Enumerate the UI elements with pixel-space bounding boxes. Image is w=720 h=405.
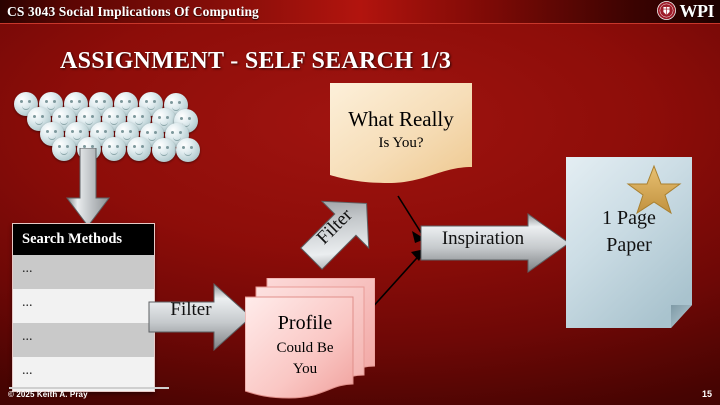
table-header-cell: Search Methods: [13, 224, 154, 255]
top-banner: CS 3043 Social Implications Of Computing: [0, 0, 720, 24]
wpi-wordmark: WPI: [680, 2, 715, 20]
what-really-document: What Really Is You?: [330, 83, 472, 183]
inspiration-arrow-label: Inspiration: [424, 229, 542, 248]
paper-line-2: Paper: [566, 234, 692, 257]
document-icon: [330, 83, 472, 183]
course-title: CS 3043 Social Implications Of Computing: [7, 4, 259, 20]
page-title: ASSIGNMENT - SELF SEARCH 1/3: [60, 48, 451, 75]
profile-line-1: Profile: [245, 312, 365, 335]
wpi-logo: WPI: [657, 1, 715, 20]
slide: CS 3043 Social Implications Of Computing…: [0, 0, 720, 405]
footer-page-number: 15: [702, 389, 712, 399]
profile-line-3: You: [245, 361, 365, 378]
paper-line-1: 1 Page: [566, 207, 692, 230]
table-row[interactable]: ...: [13, 255, 154, 289]
footer-divider: [9, 387, 169, 389]
down-arrow-icon: [66, 148, 110, 228]
profile-line-2: Could Be: [245, 340, 365, 357]
profile-document-stack: Profile Could Be You: [245, 278, 375, 403]
one-page-paper-document: 1 Page Paper: [566, 157, 692, 328]
doc-line-2: Is You?: [330, 135, 472, 152]
footer-copyright: © 2025 Keith A. Pray: [8, 390, 88, 399]
table-row[interactable]: ...: [13, 323, 154, 357]
search-methods-table: Search Methods ... ... ... ...: [12, 223, 155, 392]
table-row[interactable]: ...: [13, 289, 154, 323]
wpi-seal-icon: [657, 1, 676, 20]
doc-line-1: What Really: [330, 107, 472, 132]
filter-arrow-1-label: Filter: [148, 300, 234, 319]
